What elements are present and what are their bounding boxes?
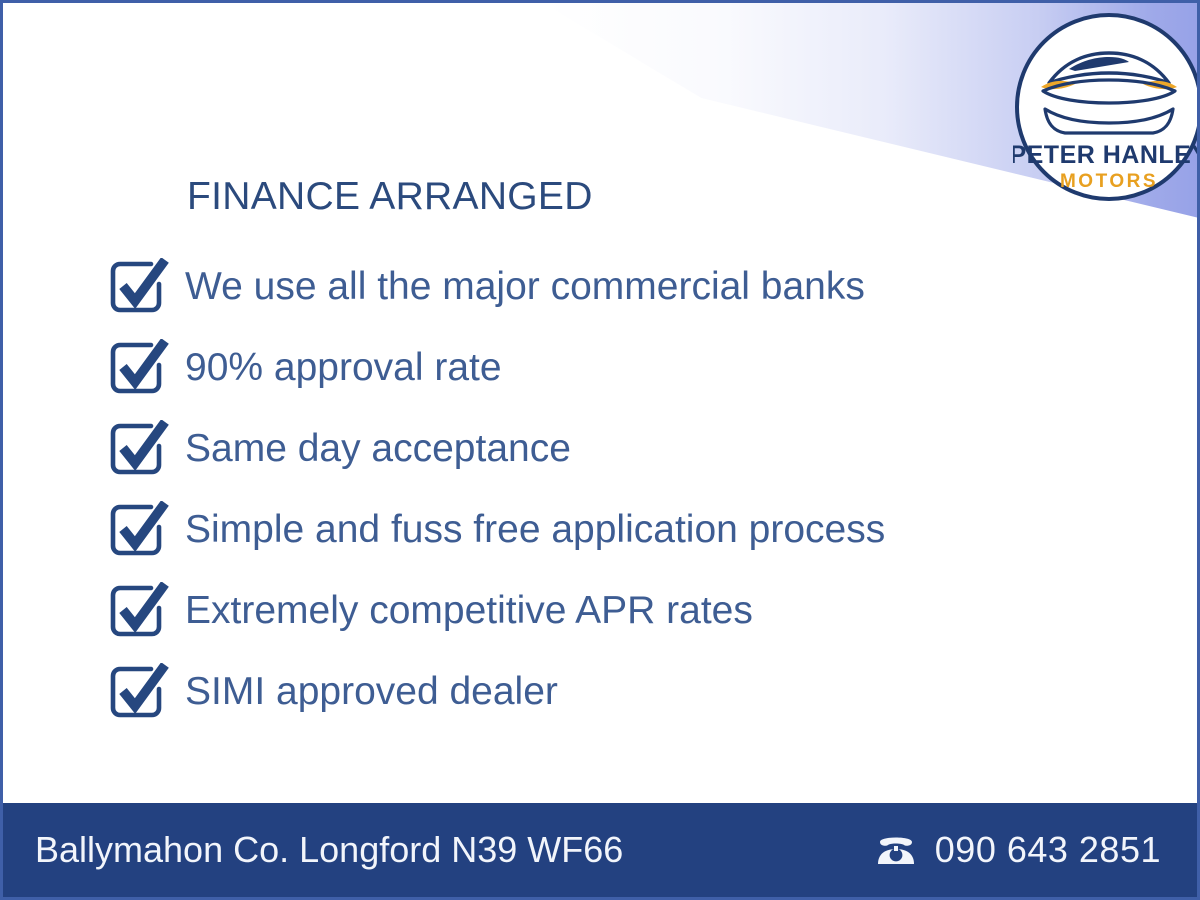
list-item: Simple and fuss free application process (107, 489, 1107, 570)
phone-number: 090 643 2851 (935, 829, 1161, 871)
list-item-label: Simple and fuss free application process (185, 510, 885, 549)
list-item: Extremely competitive APR rates (107, 570, 1107, 651)
checkbox-checked-icon (107, 420, 169, 478)
checkbox-checked-icon (107, 258, 169, 316)
peter-hanley-motors-logo: PETER HANLEY MOTORS (1013, 11, 1200, 203)
list-item: We use all the major commercial banks (107, 246, 1107, 327)
phone-block: 090 643 2851 (875, 829, 1161, 871)
checkbox-checked-icon (107, 339, 169, 397)
list-item-label: 90% approval rate (185, 348, 502, 387)
list-item: 90% approval rate (107, 327, 1107, 408)
page-title: FINANCE ARRANGED (187, 175, 593, 219)
list-item-label: We use all the major commercial banks (185, 267, 865, 306)
telephone-icon (875, 833, 917, 867)
logo-brand-name: PETER HANLEY (1013, 141, 1200, 169)
list-item: SIMI approved dealer (107, 651, 1107, 732)
checkbox-checked-icon (107, 663, 169, 721)
address-text: Ballymahon Co. Longford N39 WF66 (35, 829, 623, 871)
list-item-label: Same day acceptance (185, 429, 571, 468)
list-item-label: SIMI approved dealer (185, 672, 558, 711)
checkbox-checked-icon (107, 501, 169, 559)
finance-arranged-poster: PETER HANLEY MOTORS FINANCE ARRANGED We … (0, 0, 1200, 900)
checkbox-checked-icon (107, 582, 169, 640)
benefits-checklist: We use all the major commercial banks 90… (107, 246, 1107, 732)
list-item-label: Extremely competitive APR rates (185, 591, 753, 630)
contact-banner: Ballymahon Co. Longford N39 WF66 090 643… (3, 803, 1197, 897)
list-item: Same day acceptance (107, 408, 1107, 489)
logo-brand-subtitle: MOTORS (1060, 171, 1158, 192)
